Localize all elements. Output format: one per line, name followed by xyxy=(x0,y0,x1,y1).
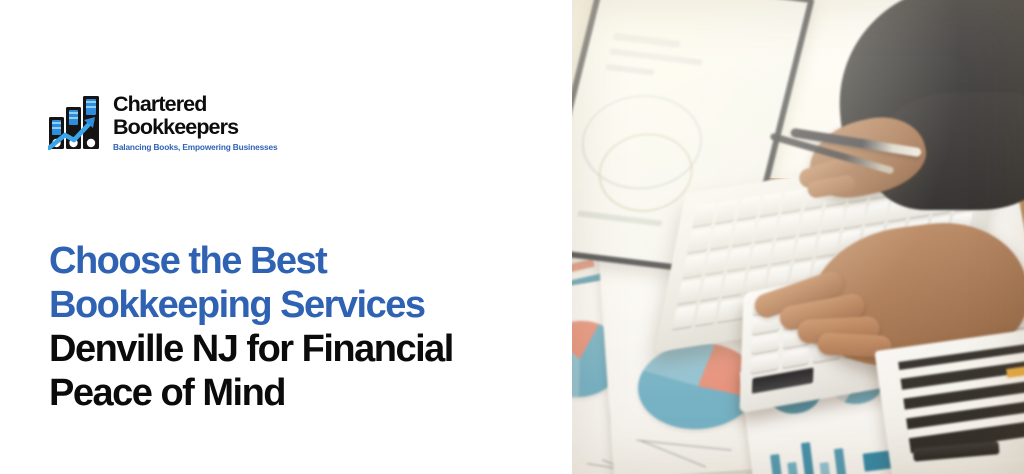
headline-line-1: Choose the Best xyxy=(49,239,519,283)
headline-line-2: Bookkeeping Services xyxy=(49,283,519,327)
page-title: Choose the Best Bookkeeping Services Den… xyxy=(49,239,519,415)
hero-banner: Chartered Bookkeepers Balancing Books, E… xyxy=(0,0,1024,474)
headline-line-4: Peace of Mind xyxy=(49,371,519,415)
striped-document xyxy=(898,341,1024,453)
headline-line-3: Denville NJ for Financial xyxy=(49,327,519,371)
logo-wordmark: Chartered Bookkeepers Balancing Books, E… xyxy=(113,90,277,153)
photo-scene xyxy=(572,0,1024,474)
logo-lockup[interactable]: Chartered Bookkeepers Balancing Books, E… xyxy=(48,90,277,153)
logo-name-line-1: Chartered xyxy=(113,93,277,116)
left-text-panel: Chartered Bookkeepers Balancing Books, E… xyxy=(0,0,572,474)
logo-tagline: Balancing Books, Empowering Businesses xyxy=(113,141,277,153)
bar-chart-growth-arrow-logo-icon xyxy=(48,90,104,150)
logo-name-line-2: Bookkeepers xyxy=(113,116,277,139)
hero-photo xyxy=(572,0,1024,474)
clipboard-binder xyxy=(874,326,1024,474)
